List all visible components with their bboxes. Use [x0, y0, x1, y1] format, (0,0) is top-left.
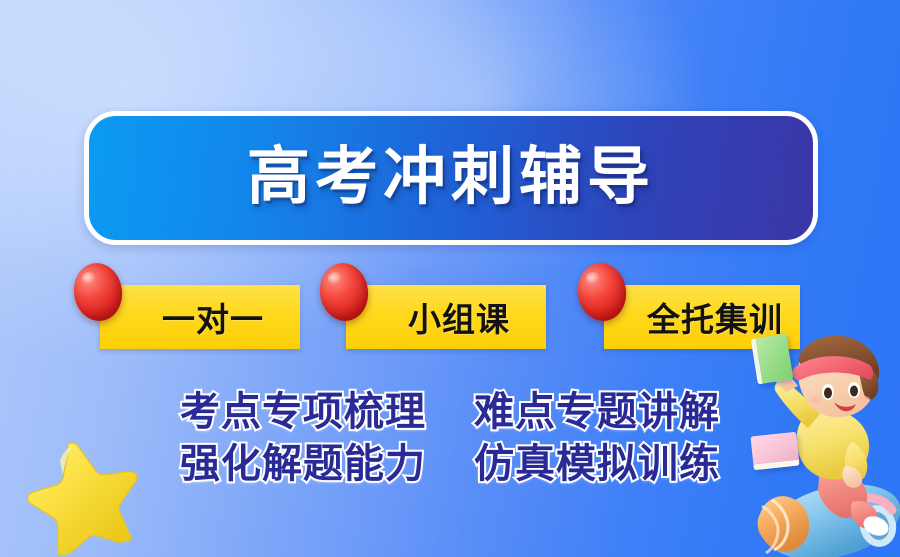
badge-one-on-one[interactable]: 一对一: [100, 285, 300, 349]
star-icon: [12, 427, 151, 557]
badge-label: 小组课: [346, 285, 546, 349]
book-green-icon: [751, 333, 794, 384]
headline-banner-plate: 高考冲刺辅导: [84, 111, 818, 245]
book-pink-icon: [750, 432, 799, 471]
feature-item: 考点专项梳理: [180, 379, 426, 437]
badge-label: 一对一: [100, 285, 300, 349]
badge-small-group[interactable]: 小组课: [346, 285, 546, 349]
headline-banner: 高考冲刺辅导: [84, 111, 818, 245]
feature-item: 难点专题讲解: [474, 379, 720, 437]
feature-item: 仿真模拟训练: [474, 431, 720, 489]
feature-item: 强化解题能力: [180, 431, 426, 489]
page-title: 高考冲刺辅导: [247, 146, 655, 209]
mascot-scene: [742, 326, 900, 557]
poster-canvas: 高考冲刺辅导 一对一 小组课 全托集训 考点专项梳理 难点专题讲解 强化解题能力…: [0, 0, 900, 557]
